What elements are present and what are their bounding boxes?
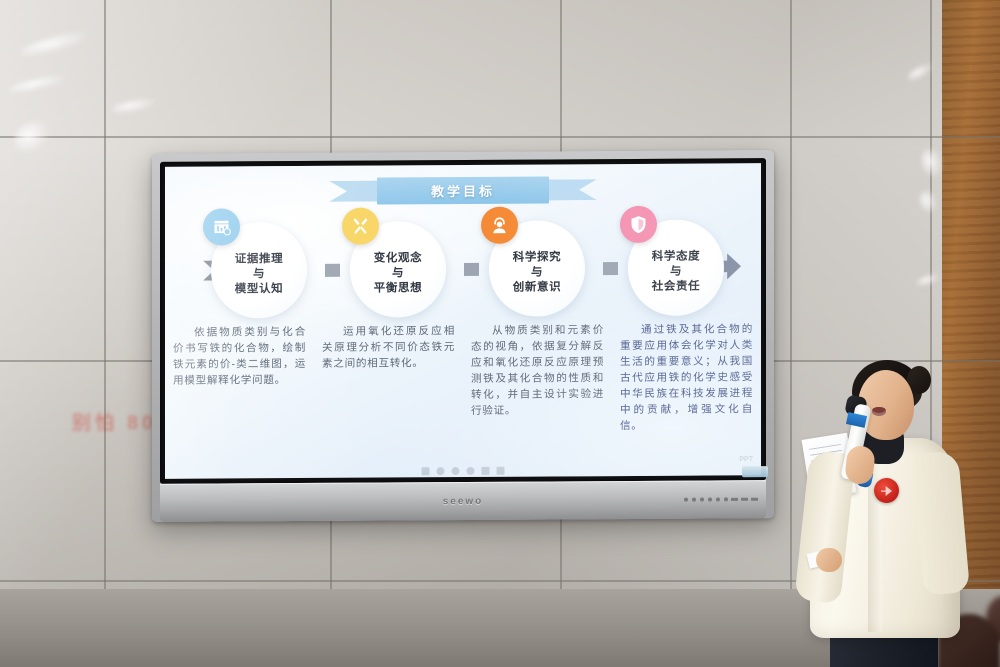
flow-connector-icon — [464, 263, 479, 276]
classroom-scene: 别怕 80 教学目标 — [0, 0, 1000, 667]
pen-icon[interactable] — [452, 467, 460, 475]
display-bezel: 教学目标 — [160, 158, 766, 484]
seewo-interactive-display[interactable]: 教学目标 — [152, 150, 774, 522]
objective-bubble: 证据推理 与 模型认知 — [211, 222, 307, 319]
panel-button[interactable] — [724, 497, 728, 501]
display-bottom-bezel: seewo — [160, 480, 766, 522]
flow-connector-icon — [325, 264, 340, 277]
objective-label-line1: 证据推理 — [235, 252, 283, 267]
eraser-icon[interactable] — [467, 467, 475, 475]
slide-corner-label: PPT — [739, 456, 753, 463]
objective-column-4: 通过铁及其化合物的重要应用体会化学对人类生活的重要意义；从我国古代应用铁的化学史… — [612, 321, 761, 476]
grid-icon[interactable] — [497, 467, 505, 475]
usb-port-icon — [751, 498, 758, 501]
objectives-flow: 证据推理 与 模型认知 变化观念 — [165, 209, 761, 325]
objective-descriptions: 依据物质类别与化合价书写铁的化合物，绘制铁元素的价-类二维图，运用模型解释化学问… — [165, 321, 761, 479]
microphone-band — [846, 412, 867, 428]
slide-title: 教学目标 — [431, 181, 495, 200]
wall-seam — [0, 136, 1000, 138]
objective-bubble: 变化观念 与 平衡思想 — [350, 221, 446, 318]
flow-connector-icon — [603, 262, 618, 275]
seewo-brand-logo: seewo — [443, 495, 484, 506]
presenter-mouth — [872, 407, 886, 416]
calendar-chart-icon — [203, 208, 240, 245]
panel-button[interactable] — [692, 498, 696, 502]
panel-button[interactable] — [684, 498, 688, 502]
crossed-tools-icon — [342, 208, 379, 245]
presenter-person — [790, 352, 1000, 667]
objective-node-4[interactable]: 科学态度 与 社会责任 — [620, 219, 732, 316]
usb-port-icon — [741, 498, 748, 501]
objective-body-3: 从物质类别和元素价态的视角，依据复分解反应和氧化还原反应原理预测铁及其化合物的性… — [471, 322, 604, 419]
shield-icon — [620, 206, 657, 243]
objective-node-2[interactable]: 变化观念 与 平衡思想 — [342, 221, 454, 318]
jacket-badge — [874, 478, 899, 503]
pointer-icon[interactable] — [437, 467, 445, 475]
objective-body-1: 依据物质类别与化合价书写铁的化合物，绘制铁元素的价-类二维图，运用模型解释化学问… — [173, 324, 306, 389]
objective-column-1: 依据物质类别与化合价书写铁的化合物，绘制铁元素的价-类二维图，运用模型解释化学问… — [165, 324, 314, 479]
objective-label-line3: 创新意识 — [513, 280, 561, 295]
objective-label-line2: 与 — [392, 266, 404, 281]
objective-label-line1: 变化观念 — [374, 251, 422, 266]
panel-ports — [731, 498, 758, 501]
presentation-toolbar[interactable] — [422, 467, 505, 476]
wall-faint-text: 别怕 80 — [72, 408, 158, 434]
panel-button[interactable] — [700, 498, 704, 502]
objective-column-3: 从物质类别和元素价态的视角，依据复分解反应和氧化还原反应原理预测铁及其化合物的性… — [463, 322, 612, 477]
panel-button[interactable] — [708, 497, 712, 501]
objective-label-line1: 科学态度 — [652, 250, 700, 265]
display-screen[interactable]: 教学目标 — [165, 163, 761, 479]
objective-label-line2: 与 — [253, 267, 265, 282]
scientist-icon — [481, 207, 518, 244]
presenter-lower-hand — [816, 548, 842, 572]
objective-bubble: 科学探究 与 创新意识 — [489, 220, 585, 317]
objective-body-4: 通过铁及其化合物的重要应用体会化学对人类生活的重要意义；从我国古代应用铁的化学史… — [620, 321, 753, 434]
pause-icon[interactable] — [422, 467, 430, 475]
objective-column-2: 运用氧化还原反应相关原理分析不同价态铁元素之间的相互转化。 — [314, 323, 463, 478]
presentation-slide[interactable]: 教学目标 — [165, 163, 761, 479]
objective-label-line2: 与 — [531, 266, 543, 281]
objective-body-2: 运用氧化还原反应相关原理分析不同价态铁元素之间的相互转化。 — [322, 323, 455, 372]
zoom-icon[interactable] — [482, 467, 490, 475]
objective-node-1[interactable]: 证据推理 与 模型认知 — [203, 222, 315, 319]
objective-label-line1: 科学探究 — [513, 250, 561, 265]
objective-label-line3: 社会责任 — [652, 280, 700, 295]
usb-port-icon — [731, 498, 738, 501]
ribbon-band: 教学目标 — [377, 176, 549, 204]
objective-label-line2: 与 — [670, 265, 682, 280]
panel-button[interactable] — [716, 497, 720, 501]
objective-label-line3: 平衡思想 — [374, 281, 422, 296]
ir-sensor-badge — [742, 466, 768, 477]
objective-node-3[interactable]: 科学探究 与 创新意识 — [481, 220, 593, 317]
slide-banner: 教学目标 — [329, 176, 597, 205]
objective-label-line3: 模型认知 — [235, 282, 283, 297]
wall-seam — [104, 0, 106, 667]
panel-control-buttons[interactable] — [684, 497, 728, 501]
objective-bubble: 科学态度 与 社会责任 — [628, 219, 724, 316]
